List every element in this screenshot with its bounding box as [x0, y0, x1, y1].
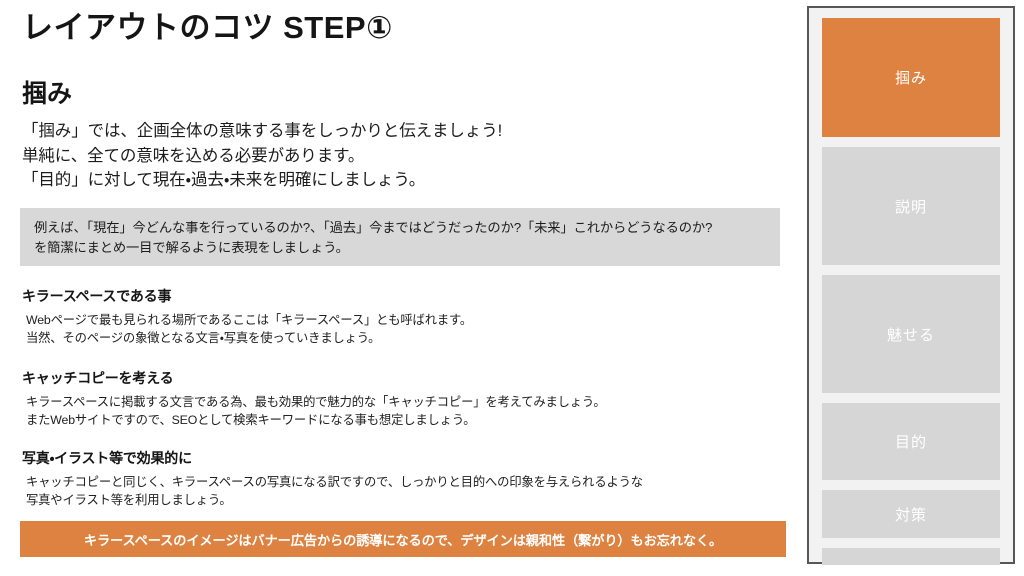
highlight-banner-text: キラースペースのイメージはバナー広告からの誘導になるので、デザインは親和性（繋が… — [84, 530, 722, 549]
callout-line: 例えば、「現在」今どんな事を行っているのか?、「過去」今まではどうだったのか?「… — [34, 218, 766, 238]
section-title: 写真・イラスト等で効果的に — [22, 450, 643, 467]
wireframe-tile-taisaku[interactable]: 対策 — [822, 490, 1000, 538]
section-line: またWebサイトですので、SEOとして検索キーワードになる事も想定しましょう。 — [22, 411, 606, 429]
section-body: Webページで最も見られる場所であるここは「キラースペース」とも呼ばれます。 当… — [22, 311, 472, 347]
page-title: レイアウトのコツ STEP① — [22, 11, 393, 45]
wireframe-tile-setsumei[interactable]: 説明 — [822, 147, 1000, 265]
wireframe-tile-miseru[interactable]: 魅せる — [822, 275, 1000, 393]
section-line: キャッチコピーと同じく、キラースペースの写真になる訳ですので、しっかりと目的への… — [22, 473, 643, 491]
wireframe-tile-mokuteki[interactable]: 目的 — [822, 403, 1000, 480]
wireframe-tile-list: 掴み 説明 魅せる 目的 対策 — [822, 18, 1000, 552]
section-line: 当然、そのページの象徴となる文言・写真を使っていきましょう。 — [22, 329, 472, 347]
callout-line: を簡潔にまとめ一目で解るように表現をしましょう。 — [34, 238, 766, 258]
lead-line: 「掴み」では、企画全体の意味する事をしっかりと伝えましょう! — [22, 119, 502, 144]
wireframe-tile-tsukami[interactable]: 掴み — [822, 18, 1000, 137]
wireframe-preview-panel: 掴み 説明 魅せる 目的 対策 — [807, 6, 1015, 564]
section-heading: 掴み — [22, 80, 72, 109]
section-title: キャッチコピーを考える — [22, 370, 606, 387]
lead-line: 「目的」に対して現在・過去・未来を明確にしましょう。 — [22, 168, 502, 193]
section-line: 写真やイラスト等を利用しましょう。 — [22, 491, 643, 509]
content-section-photo-illustration: 写真・イラスト等で効果的に キャッチコピーと同じく、キラースペースの写真になる訳… — [22, 450, 643, 509]
content-section-catch-copy: キャッチコピーを考える キラースペースに掲載する文言である為、最も効果的で魅力的… — [22, 370, 606, 429]
lead-paragraph: 「掴み」では、企画全体の意味する事をしっかりと伝えましょう! 単純に、全ての意味… — [22, 119, 502, 193]
wireframe-tile-footer[interactable] — [822, 548, 1000, 565]
section-line: キラースペースに掲載する文言である為、最も効果的で魅力的な「キャッチコピー」を考… — [22, 393, 606, 411]
highlight-banner: キラースペースのイメージはバナー広告からの誘導になるので、デザインは親和性（繋が… — [20, 521, 786, 557]
slide-canvas: レイアウトのコツ STEP① 掴み 「掴み」では、企画全体の意味する事をしっかり… — [0, 0, 1024, 576]
section-body: キャッチコピーと同じく、キラースペースの写真になる訳ですので、しっかりと目的への… — [22, 473, 643, 509]
section-title: キラースペースである事 — [22, 288, 472, 305]
section-body: キラースペースに掲載する文言である為、最も効果的で魅力的な「キャッチコピー」を考… — [22, 393, 606, 429]
content-section-killer-space: キラースペースである事 Webページで最も見られる場所であるここは「キラースペー… — [22, 288, 472, 347]
example-callout-box: 例えば、「現在」今どんな事を行っているのか?、「過去」今まではどうだったのか?「… — [20, 208, 780, 266]
content-column: レイアウトのコツ STEP① 掴み 「掴み」では、企画全体の意味する事をしっかり… — [20, 0, 786, 576]
lead-line: 単純に、全ての意味を込める必要があります。 — [22, 144, 502, 169]
section-line: Webページで最も見られる場所であるここは「キラースペース」とも呼ばれます。 — [22, 311, 472, 329]
